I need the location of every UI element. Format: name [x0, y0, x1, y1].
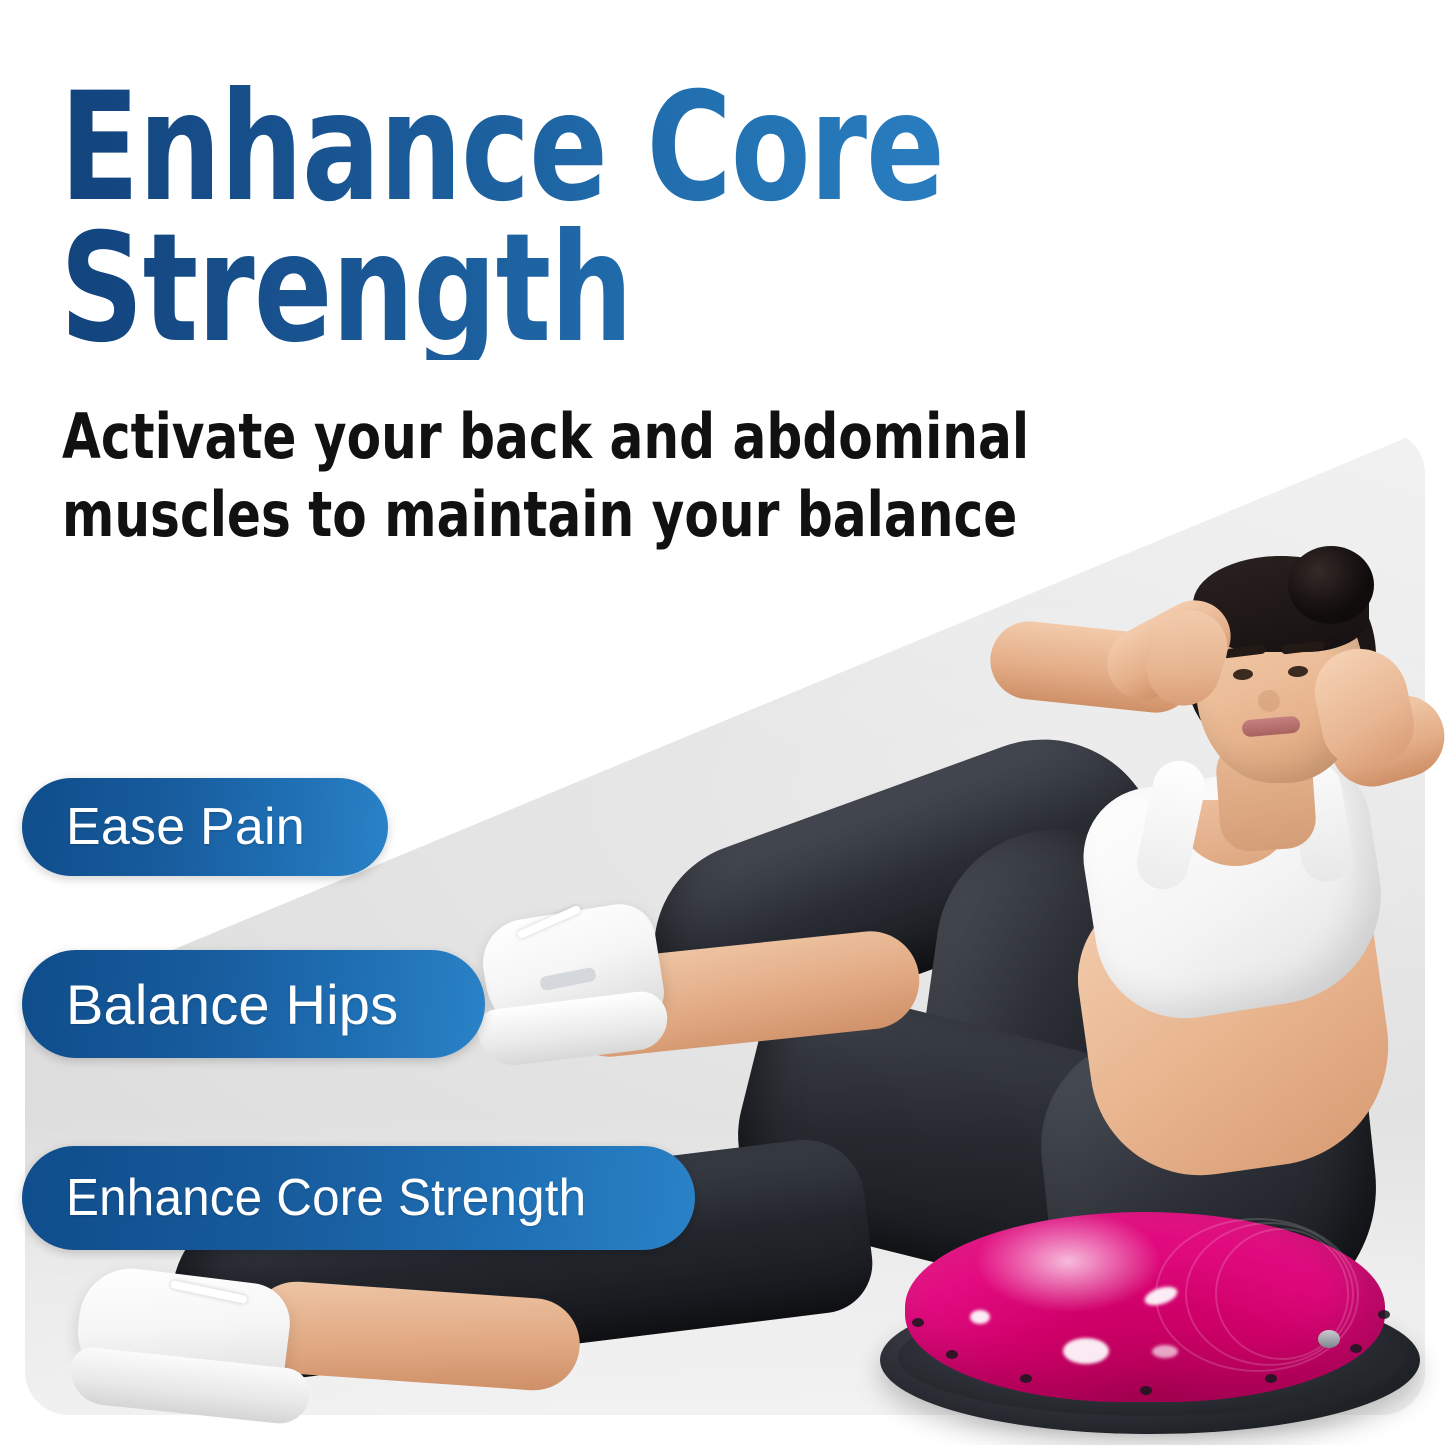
benefit-pill-ease-pain[interactable]: Ease Pain: [22, 778, 388, 876]
base-screw: [1378, 1310, 1390, 1319]
base-screw: [946, 1350, 958, 1359]
benefit-pill-label: Balance Hips: [66, 972, 398, 1037]
benefit-pill-label: Enhance Core Strength: [66, 1168, 586, 1228]
nose: [1258, 690, 1280, 712]
base-screw: [1140, 1386, 1152, 1395]
benefit-pill-label: Ease Pain: [66, 797, 305, 857]
base-screw: [1265, 1374, 1277, 1383]
product-feature-graphic: Enhance Core Strength Activate your back…: [0, 0, 1445, 1445]
dome-highlight: [1063, 1338, 1109, 1364]
base-screw: [912, 1318, 924, 1327]
base-screw: [1350, 1344, 1362, 1353]
dome-highlight: [970, 1310, 990, 1324]
benefit-pill-enhance-core-strength[interactable]: Enhance Core Strength: [22, 1146, 695, 1250]
page-title: Enhance Core Strength: [60, 78, 1023, 360]
dome-highlight: [1152, 1345, 1178, 1358]
hair-bun: [1288, 546, 1374, 624]
benefit-pill-balance-hips[interactable]: Balance Hips: [22, 950, 485, 1058]
base-screw: [1020, 1374, 1032, 1383]
inflation-valve-icon: [1318, 1330, 1340, 1348]
page-subtitle: Activate your back and abdominal muscles…: [62, 398, 1079, 553]
